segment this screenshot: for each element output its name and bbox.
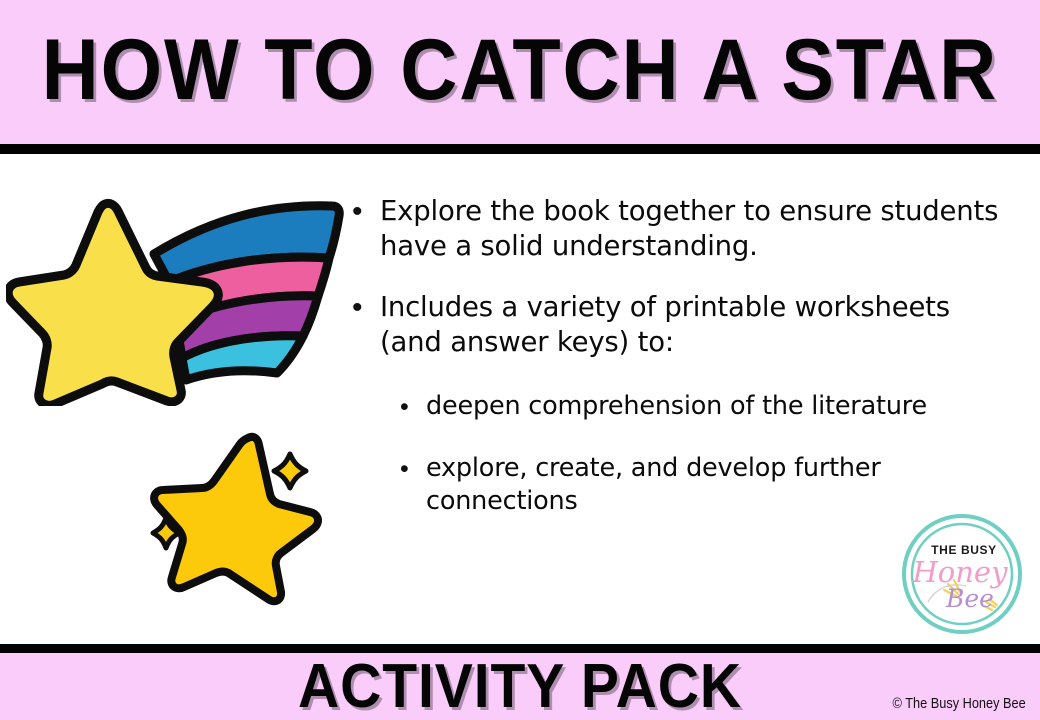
sub-bullet-marker: • [400, 390, 426, 424]
gold-star-icon [130, 422, 330, 607]
sub-bullet-marker: • [400, 452, 426, 486]
header-banner: HOW TO CATCH A STAR [0, 0, 1040, 144]
footer-title: ACTIVITY PACK [42, 653, 999, 720]
shooting-star-icon [6, 176, 346, 406]
footer-banner: ACTIVITY PACK © The Busy Honey Bee [0, 653, 1040, 720]
copyright-credit: © The Busy Honey Bee [893, 695, 1026, 712]
feature-list: • Explore the book together to ensure st… [352, 194, 1012, 518]
sub-list-item: • explore, create, and develop further c… [400, 452, 1012, 518]
header-divider [0, 144, 1040, 154]
sub-feature-list: • deepen comprehension of the literature… [400, 390, 1012, 518]
sub-bullet-text: explore, create, and develop further con… [426, 452, 1012, 518]
body-area: • Explore the book together to ensure st… [0, 154, 1040, 644]
bullet-text: Explore the book together to ensure stud… [380, 194, 1012, 264]
bullet-text: Includes a variety of printable workshee… [380, 290, 1012, 360]
list-item: • Explore the book together to ensure st… [352, 194, 1012, 264]
artwork-column [0, 154, 350, 644]
list-item: • Includes a variety of printable worksh… [352, 290, 1012, 360]
poster: HOW TO CATCH A STAR [0, 0, 1040, 720]
logo-script-bee: Bee [945, 584, 994, 613]
brand-logo: THE BUSY Honey Bee [898, 510, 1026, 638]
sparkle-icon-top-right [274, 454, 306, 488]
sub-bullet-text: deepen comprehension of the literature [426, 390, 1012, 423]
page-title: HOW TO CATCH A STAR [42, 27, 998, 117]
sub-list-item: • deepen comprehension of the literature [400, 390, 1012, 424]
bullet-marker: • [352, 290, 380, 326]
bullet-marker: • [352, 194, 380, 230]
